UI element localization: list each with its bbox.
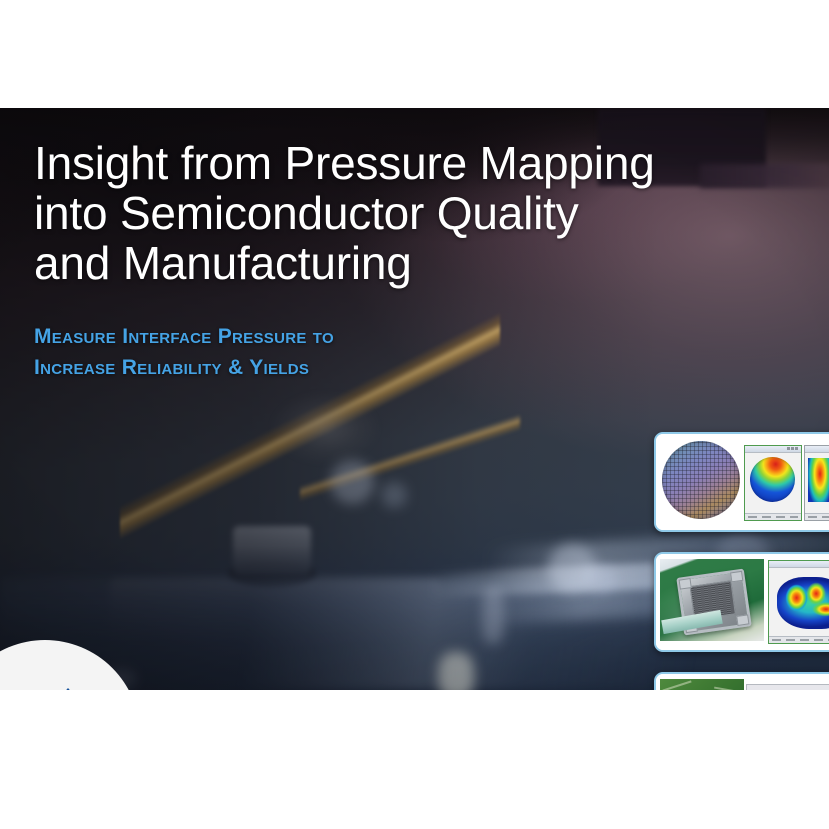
pcb-trace (714, 687, 742, 690)
wafer-photo-image (662, 441, 740, 519)
window-statusbar (769, 636, 829, 643)
title-block: Insight from Pressure Mapping into Semic… (34, 138, 754, 383)
thumbnail-card-chip[interactable]: Packaged chip on board with multi-panel … (654, 672, 829, 690)
window-titlebar (769, 561, 829, 568)
thumbnail-card-socket[interactable]: CPU socket on PCB with pressure footprin… (654, 552, 829, 652)
slide-canvas: Insight from Pressure Mapping into Semic… (0, 0, 829, 829)
triangle-blue-shape (31, 688, 105, 690)
tekscan-triangle-icon (31, 688, 105, 690)
3d-surface-plot (808, 458, 829, 502)
socket-photo-image (660, 559, 764, 641)
window-statusbar (805, 513, 829, 520)
pressure-map-window (768, 560, 829, 644)
pressure-footprint-map (777, 577, 829, 629)
pcb-trace (662, 680, 691, 690)
page-title: Insight from Pressure Mapping into Semic… (34, 138, 754, 288)
thumbnail-card-wafer[interactable]: Silicon wafer with circular pressure map… (654, 432, 829, 532)
thumbnail-content (656, 554, 829, 650)
surface-plot-window (804, 445, 829, 521)
window-titlebar (805, 446, 829, 453)
thumbnail-content (656, 674, 829, 690)
chip-photo-image (660, 679, 744, 690)
pressure-map-window (744, 445, 802, 521)
analysis-software-window (746, 684, 829, 690)
socket-clip (730, 571, 743, 583)
tekscan-logo: Tekscan™ (6, 688, 130, 690)
page-subtitle: Measure Interface Pressure to Increase R… (34, 288, 754, 383)
socket-clip (736, 614, 749, 626)
circular-pressure-map (750, 457, 795, 502)
thumbnail-content (656, 434, 829, 530)
window-titlebar (745, 446, 801, 453)
socket-clip (679, 578, 692, 590)
hero-band: Insight from Pressure Mapping into Semic… (0, 108, 829, 690)
window-statusbar (745, 513, 801, 520)
